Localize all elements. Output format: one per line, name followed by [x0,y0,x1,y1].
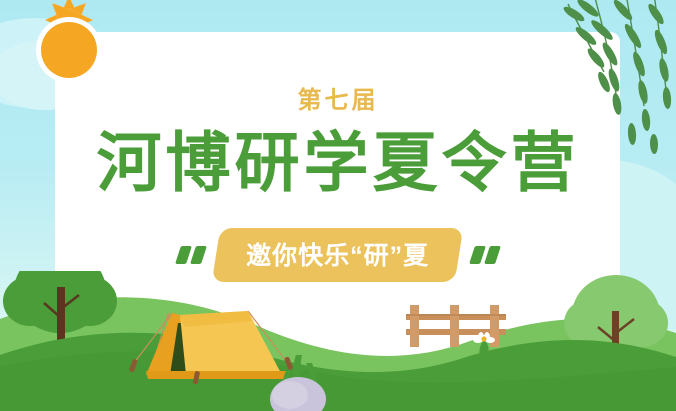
page-title: 河博研学夏令营 [0,130,676,195]
open-quote-icon [178,246,204,264]
poster-canvas: 第七届 河博研学夏令营 邀你快乐“研”夏 [0,0,676,411]
edition-label: 第七届 [0,80,676,115]
subtitle-text: 邀你快乐“研”夏 [247,236,430,272]
close-quote-icon [472,246,498,264]
landscape-illustration [0,271,676,411]
